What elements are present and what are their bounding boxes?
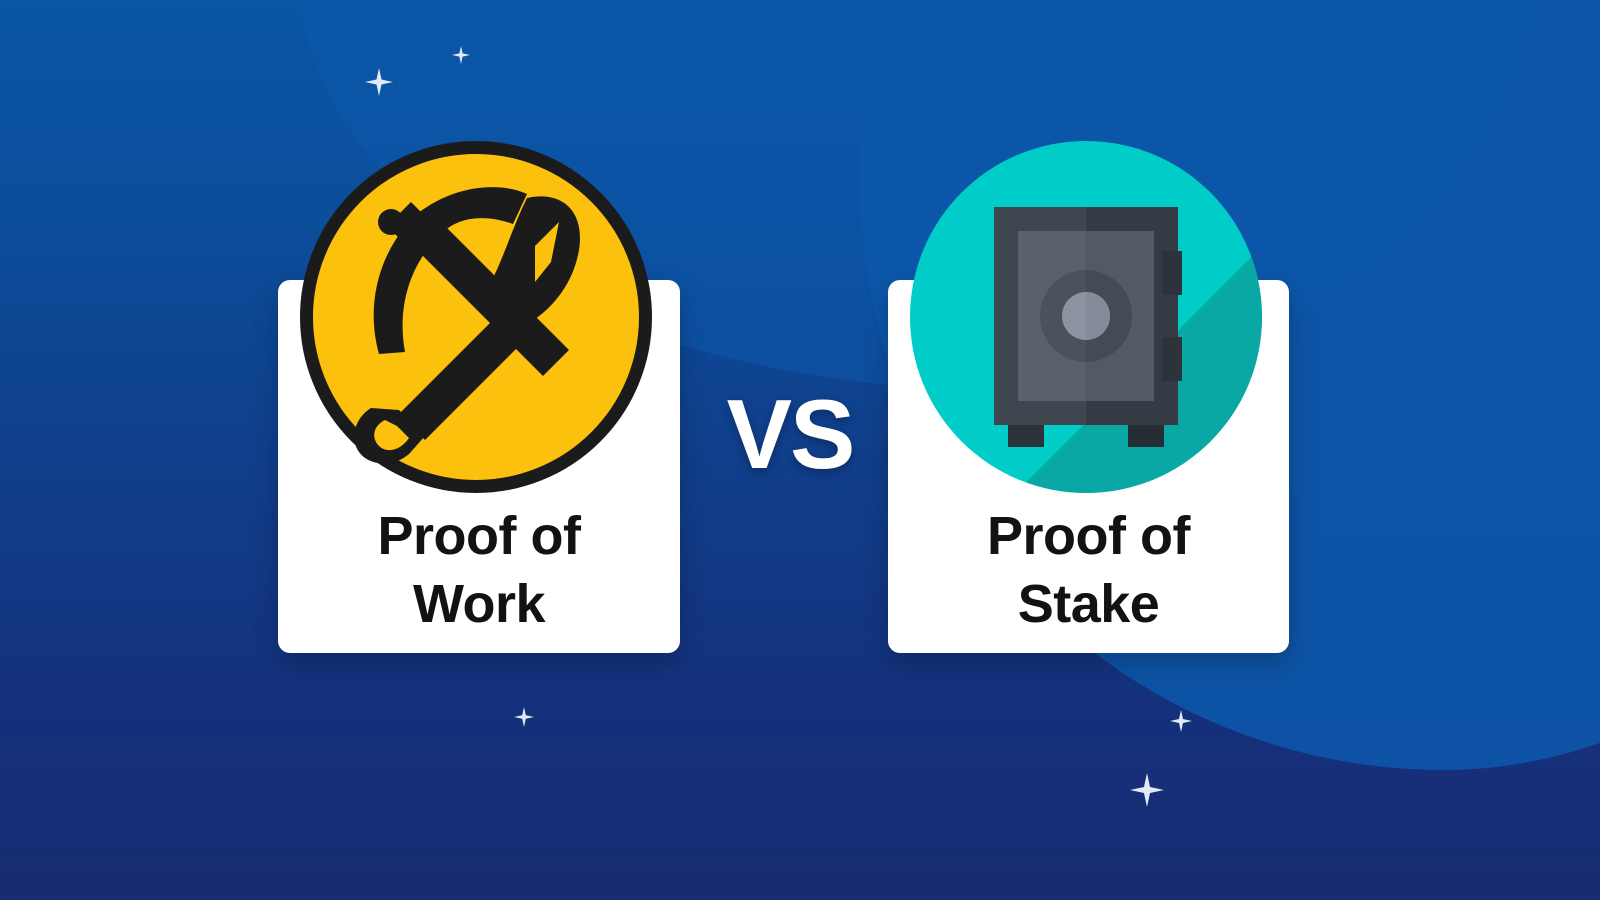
sparkle-bottom-mid-icon [1170, 688, 1192, 710]
card-title-line-1: Proof of [278, 502, 680, 570]
safe-vault-icon [910, 141, 1262, 493]
card-title-line-1: Proof of [888, 502, 1289, 570]
card-title-line-2: Stake [888, 570, 1289, 638]
sparkle-bottom-right-icon [1130, 739, 1164, 773]
sparkle-bottom-left-icon [514, 687, 534, 707]
card-title-proof-of-stake: Proof of Stake [888, 502, 1289, 638]
sparkle-top-right-icon [1062, 123, 1082, 143]
sparkle-top-left-icon [365, 40, 393, 68]
sparkle-top-left-2-icon [452, 28, 470, 46]
pickaxe-shovel-icon [300, 141, 652, 493]
card-title-line-2: Work [278, 570, 680, 638]
card-title-proof-of-work: Proof of Work [278, 502, 680, 638]
versus-separator: VS [690, 385, 890, 483]
comparison-graphic: Proof of Work [0, 0, 1600, 900]
